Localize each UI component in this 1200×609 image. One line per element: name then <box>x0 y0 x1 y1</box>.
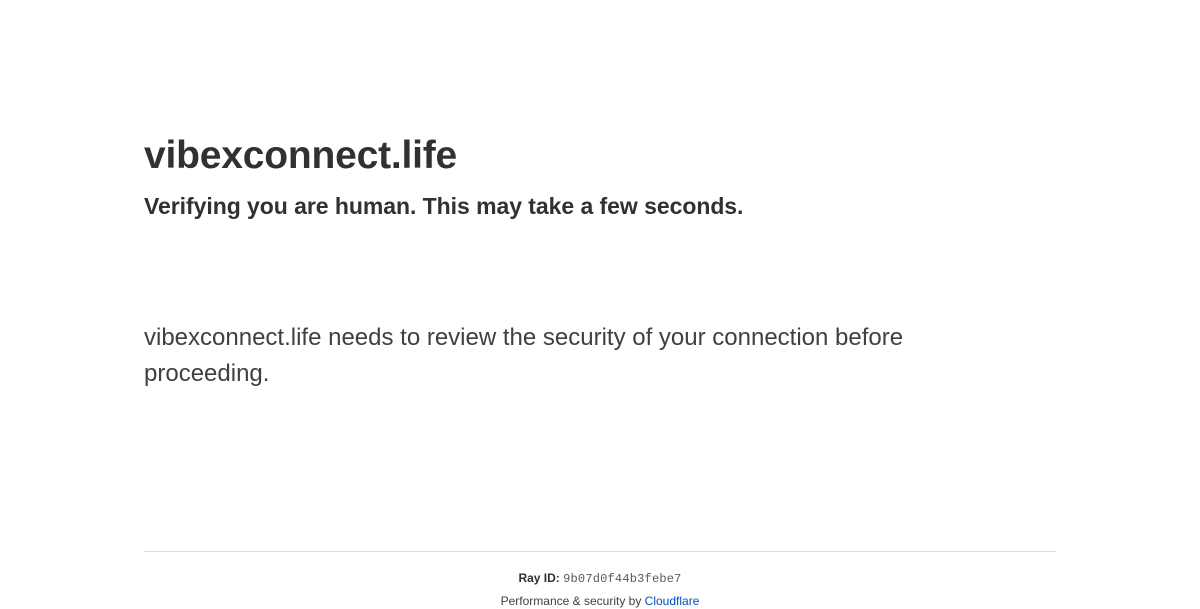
page-title: vibexconnect.life <box>144 133 457 179</box>
attribution: Performance & security by Cloudflare <box>144 587 1056 609</box>
turnstile-challenge-widget[interactable] <box>144 236 444 306</box>
verification-status-text: Verifying you are human. This may take a… <box>144 192 743 220</box>
page-footer: Ray ID: 9b07d0f44b3febe7 Performance & s… <box>144 551 1056 609</box>
ray-id: Ray ID: 9b07d0f44b3febe7 <box>144 553 1056 587</box>
ray-id-label: Ray ID: <box>518 571 559 585</box>
attribution-prefix: Performance & security by <box>501 594 645 608</box>
cloudflare-link[interactable]: Cloudflare <box>645 594 700 608</box>
ray-id-value: 9b07d0f44b3febe7 <box>563 572 681 586</box>
challenge-page: vibexconnect.life Verifying you are huma… <box>0 0 1200 600</box>
challenge-description: vibexconnect.life needs to review the se… <box>144 320 944 392</box>
